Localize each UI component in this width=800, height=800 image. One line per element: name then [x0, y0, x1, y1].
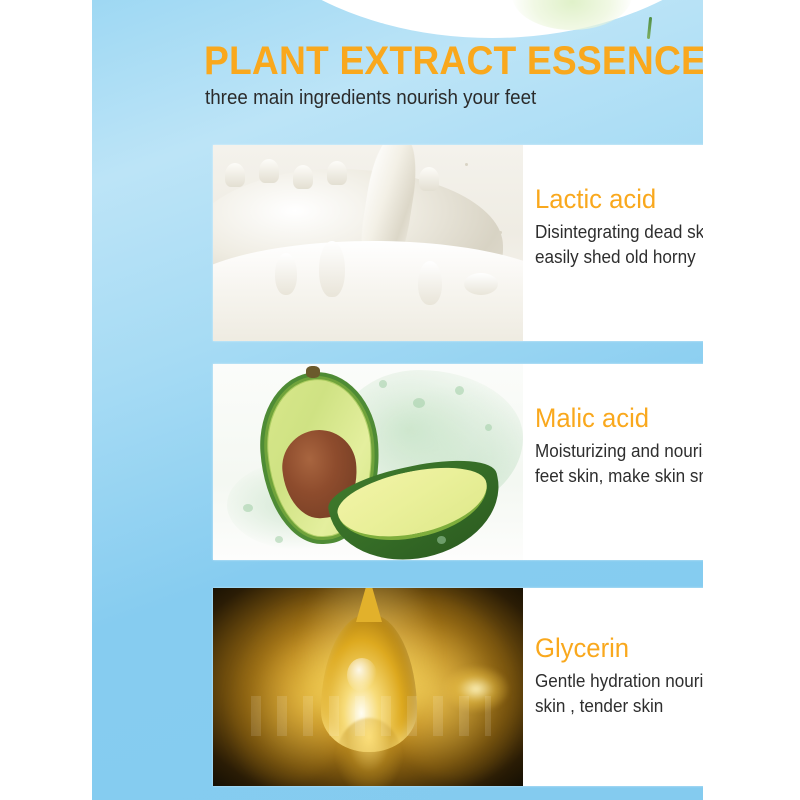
ingredient-title: Glycerin	[535, 632, 703, 666]
product-feature-poster: PLANT EXTRACT ESSENCE three main ingredi…	[0, 0, 800, 800]
milk-droplet	[418, 261, 442, 305]
ingredient-description-line1: Gentle hydration nourishes	[535, 669, 703, 695]
ingredient-text-2: Malic acid Moisturizing and nourishing f…	[523, 364, 703, 560]
milk-nub	[293, 165, 313, 189]
ingredient-description-line2: feet skin, make skin smooth	[535, 464, 703, 490]
ingredient-card-1: Lactic acid Disintegrating dead skin, ea…	[213, 145, 703, 341]
ingredient-description-line2: skin , tender skin	[535, 694, 703, 720]
milk-nub	[259, 159, 279, 183]
ingredient-description-line1: Moisturizing and nourishing	[535, 439, 703, 465]
avocado-water-splash-photo	[213, 364, 523, 560]
milk-speck	[465, 163, 468, 166]
water-droplet	[485, 424, 492, 431]
milk-droplet	[319, 241, 345, 297]
ingredient-title: Malic acid	[535, 402, 703, 436]
top-white-arc-decoration	[212, 0, 703, 38]
ingredient-text-1: Lactic acid Disintegrating dead skin, ea…	[523, 145, 703, 341]
ingredient-text-3: Glycerin Gentle hydration nourishes skin…	[523, 588, 703, 786]
image-watermark	[251, 696, 491, 736]
ingredient-description-line2: easily shed old horny	[535, 245, 703, 271]
milk-splash-photo	[213, 145, 523, 341]
water-droplet	[379, 380, 387, 388]
ingredient-title: Lactic acid	[535, 183, 703, 217]
water-droplet	[437, 536, 446, 544]
avocado-stem	[306, 366, 320, 378]
milk-nub	[419, 167, 439, 191]
milk-droplet	[275, 253, 297, 295]
ingredient-card-3: Glycerin Gentle hydration nourishes skin…	[213, 588, 703, 786]
water-droplet	[275, 536, 283, 543]
page-subtitle: three main ingredients nourish your feet	[205, 86, 536, 110]
milk-nub	[225, 163, 245, 187]
top-leaf-stem-decoration	[647, 17, 652, 39]
ingredient-card-2: Malic acid Moisturizing and nourishing f…	[213, 364, 703, 560]
water-droplet	[243, 504, 253, 512]
milk-speck	[499, 231, 502, 234]
golden-oil-drop-photo	[213, 588, 523, 786]
milk-droplet	[464, 273, 498, 295]
milk-nub	[327, 161, 347, 185]
blue-background-panel: PLANT EXTRACT ESSENCE three main ingredi…	[92, 0, 703, 800]
page-title: PLANT EXTRACT ESSENCE	[204, 40, 703, 82]
ingredient-description-line1: Disintegrating dead skin,	[535, 220, 703, 246]
water-droplet	[413, 398, 425, 408]
water-droplet	[455, 386, 464, 395]
